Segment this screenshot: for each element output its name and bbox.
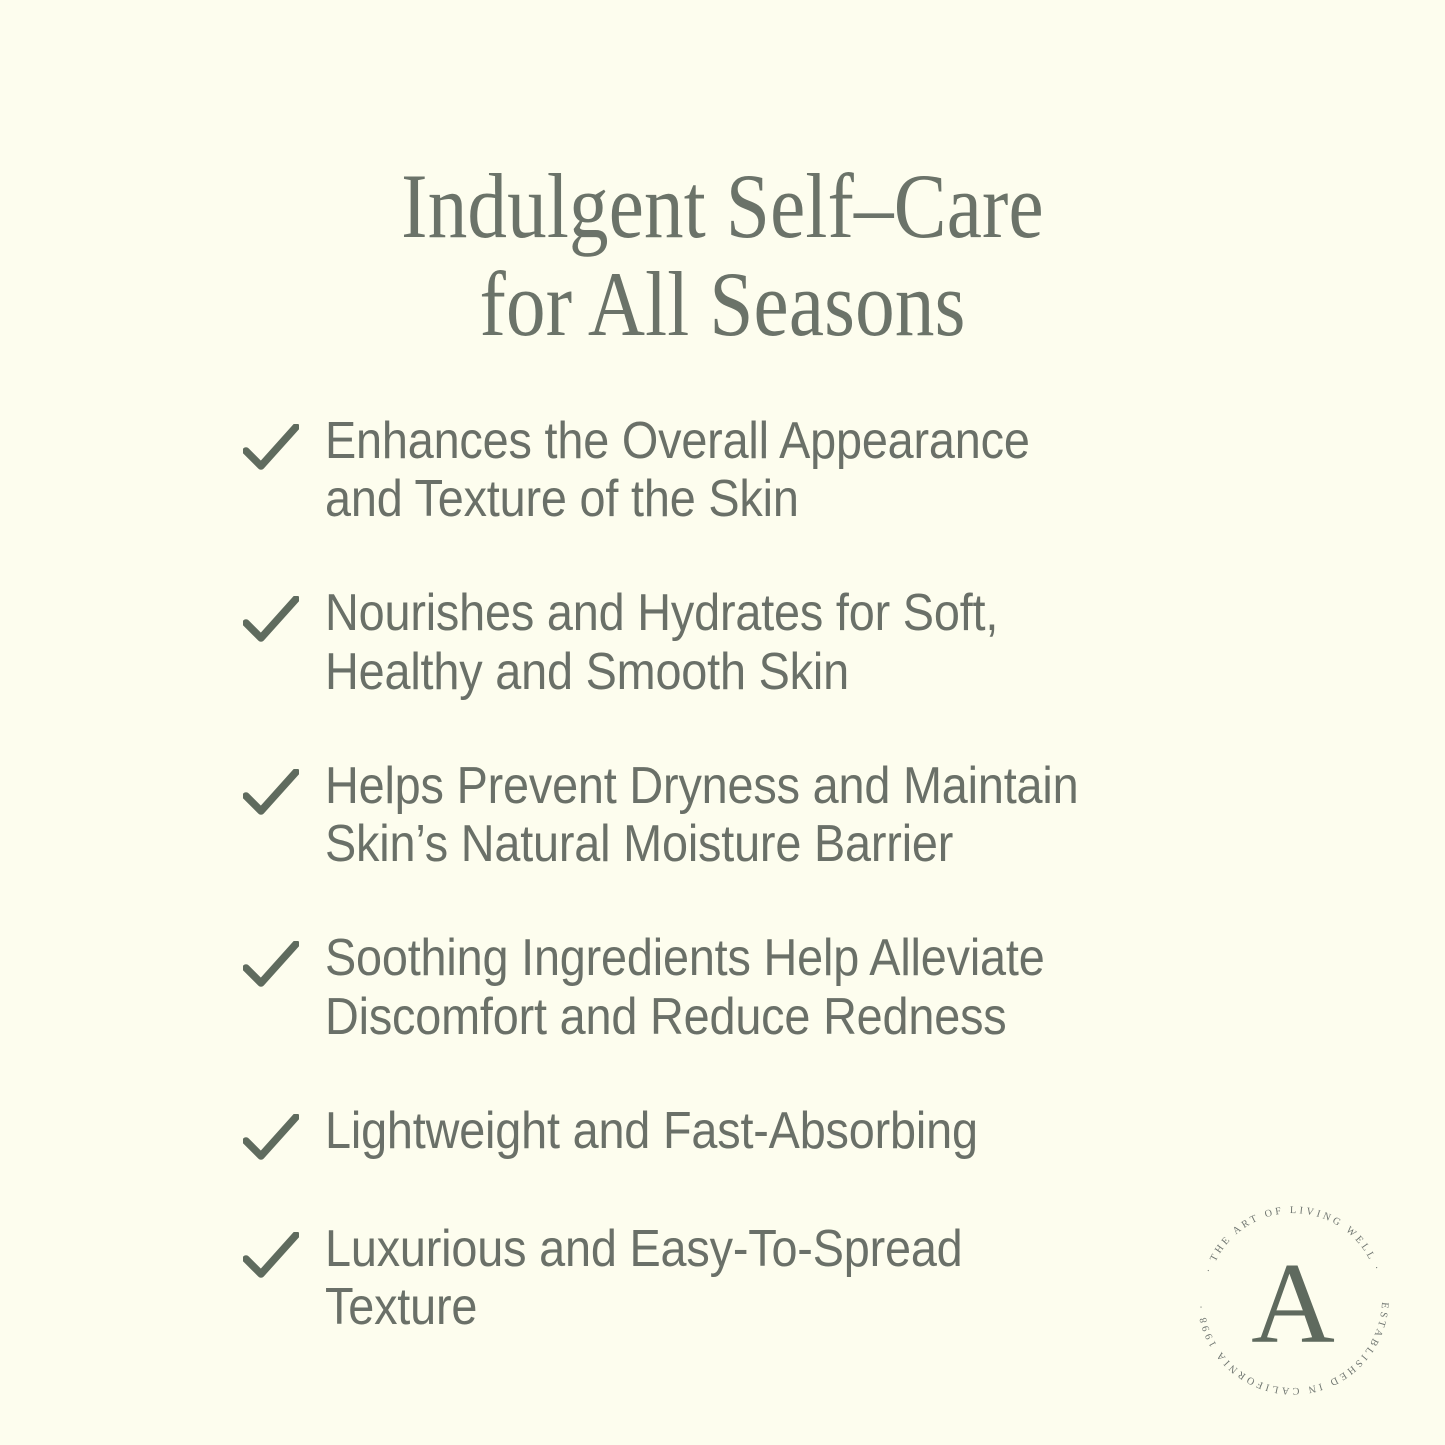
benefits-list: Enhances the Overall Appearance and Text… xyxy=(243,412,1203,1336)
check-icon xyxy=(243,596,299,646)
list-item: Helps Prevent Dryness and Maintain Skin’… xyxy=(243,757,1203,873)
list-item-label: Luxurious and Easy-To-Spread Texture xyxy=(325,1220,1115,1336)
check-icon xyxy=(243,424,299,474)
list-item: Enhances the Overall Appearance and Text… xyxy=(243,412,1203,528)
brand-badge: · THE ART OF LIVING WELL · ESTABLISHED I… xyxy=(1186,1192,1400,1406)
list-item-label: Nourishes and Hydrates for Soft, Healthy… xyxy=(325,584,1115,700)
page-title: Indulgent Self–Care for All Seasons xyxy=(101,158,1344,353)
check-icon xyxy=(243,941,299,991)
list-item: Nourishes and Hydrates for Soft, Healthy… xyxy=(243,584,1203,700)
badge-monogram: A xyxy=(1251,1240,1335,1368)
list-item: Luxurious and Easy-To-Spread Texture xyxy=(243,1220,1203,1336)
list-item-label: Lightweight and Fast-Absorbing xyxy=(325,1102,1115,1160)
list-item-label: Enhances the Overall Appearance and Text… xyxy=(325,412,1115,528)
list-item: Lightweight and Fast-Absorbing xyxy=(243,1102,1203,1164)
check-icon xyxy=(243,769,299,819)
check-icon xyxy=(243,1232,299,1282)
list-item-label: Helps Prevent Dryness and Maintain Skin’… xyxy=(325,757,1115,873)
page-title-line-2: for All Seasons xyxy=(101,256,1344,354)
page-title-line-1: Indulgent Self–Care xyxy=(101,158,1344,256)
check-icon xyxy=(243,1114,299,1164)
promo-card: Indulgent Self–Care for All Seasons Enha… xyxy=(0,0,1445,1445)
list-item-label: Soothing Ingredients Help Alleviate Disc… xyxy=(325,929,1115,1045)
list-item: Soothing Ingredients Help Alleviate Disc… xyxy=(243,929,1203,1045)
